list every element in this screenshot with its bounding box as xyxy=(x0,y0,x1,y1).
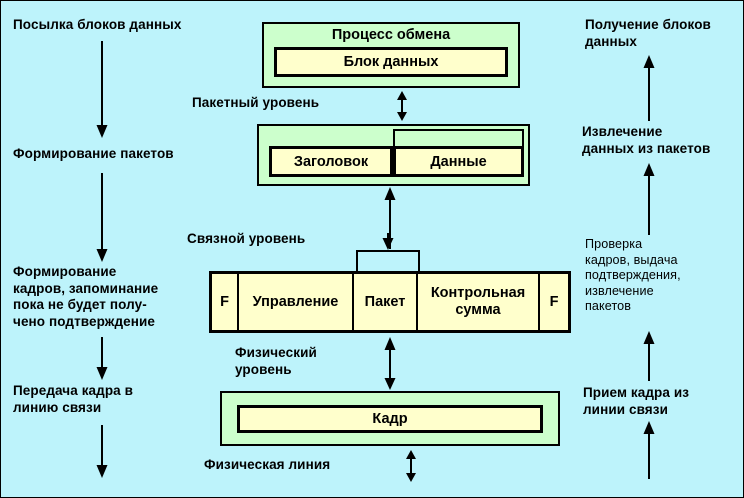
arrow-up-icon-right-4 xyxy=(640,421,658,479)
label-check-frames: Проверка кадров, выдача подтверждения, и… xyxy=(585,237,737,315)
frame-cell-packet: Пакет xyxy=(354,274,418,330)
label-physical-line: Физическая линия xyxy=(204,457,404,474)
frame-cell-control: Управление xyxy=(239,274,354,330)
arrow-down-icon-left-4 xyxy=(93,425,111,479)
frame-cell-checksum: Контрольная сумма xyxy=(418,274,540,330)
label-send-data-blocks: Посылка блоков данных xyxy=(13,17,253,34)
label-link-layer: Связной уровень xyxy=(187,231,387,248)
arrow-up-down-icon-physical-line xyxy=(402,450,420,482)
packet-cell-data: Данные xyxy=(393,146,524,177)
arrow-down-icon-packet-to-frame xyxy=(379,233,397,251)
label-receive-data-blocks: Получение блоков данных xyxy=(585,17,744,50)
label-physical-layer: Физический уровень xyxy=(235,345,355,378)
frame-layer-strip: F Управление Пакет Контрольная сумма F xyxy=(209,271,571,333)
arrow-up-icon-right-2 xyxy=(640,163,658,235)
diagram-canvas: Посылка блоков данных Формирование пакет… xyxy=(0,0,744,498)
label-transmit-frame: Передача кадра в линию связи xyxy=(13,383,203,416)
arrow-down-icon-left-2 xyxy=(93,173,111,263)
packet-cell-header: Заголовок xyxy=(269,146,393,177)
frame-cell-flag-start: F xyxy=(212,274,239,330)
arrow-down-icon-frame-to-physical xyxy=(381,367,399,391)
arrow-down-icon-left-3 xyxy=(93,337,111,381)
frame-packet-extension-outline xyxy=(356,250,420,273)
data-block-unit: Блок данных xyxy=(274,47,508,77)
label-form-frames: Формирование кадров, запоминание пока не… xyxy=(13,264,213,330)
label-packet-layer: Пакетный уровень xyxy=(192,95,392,112)
arrow-up-icon-right-3 xyxy=(640,331,658,381)
arrow-down-icon-left-1 xyxy=(93,41,111,139)
label-form-packets: Формирование пакетов xyxy=(13,146,253,163)
arrow-up-down-icon-process-packet xyxy=(393,91,411,121)
frame-cell-flag-end: F xyxy=(540,274,568,330)
frame-unit: Кадр xyxy=(237,405,543,433)
arrow-up-icon-right-1 xyxy=(640,55,658,121)
label-receive-frame: Прием кадра из линии связи xyxy=(583,385,743,418)
label-extract-data: Извлечение данных из пакетов xyxy=(582,124,742,157)
exchange-process-caption: Процесс обмена xyxy=(264,27,518,43)
